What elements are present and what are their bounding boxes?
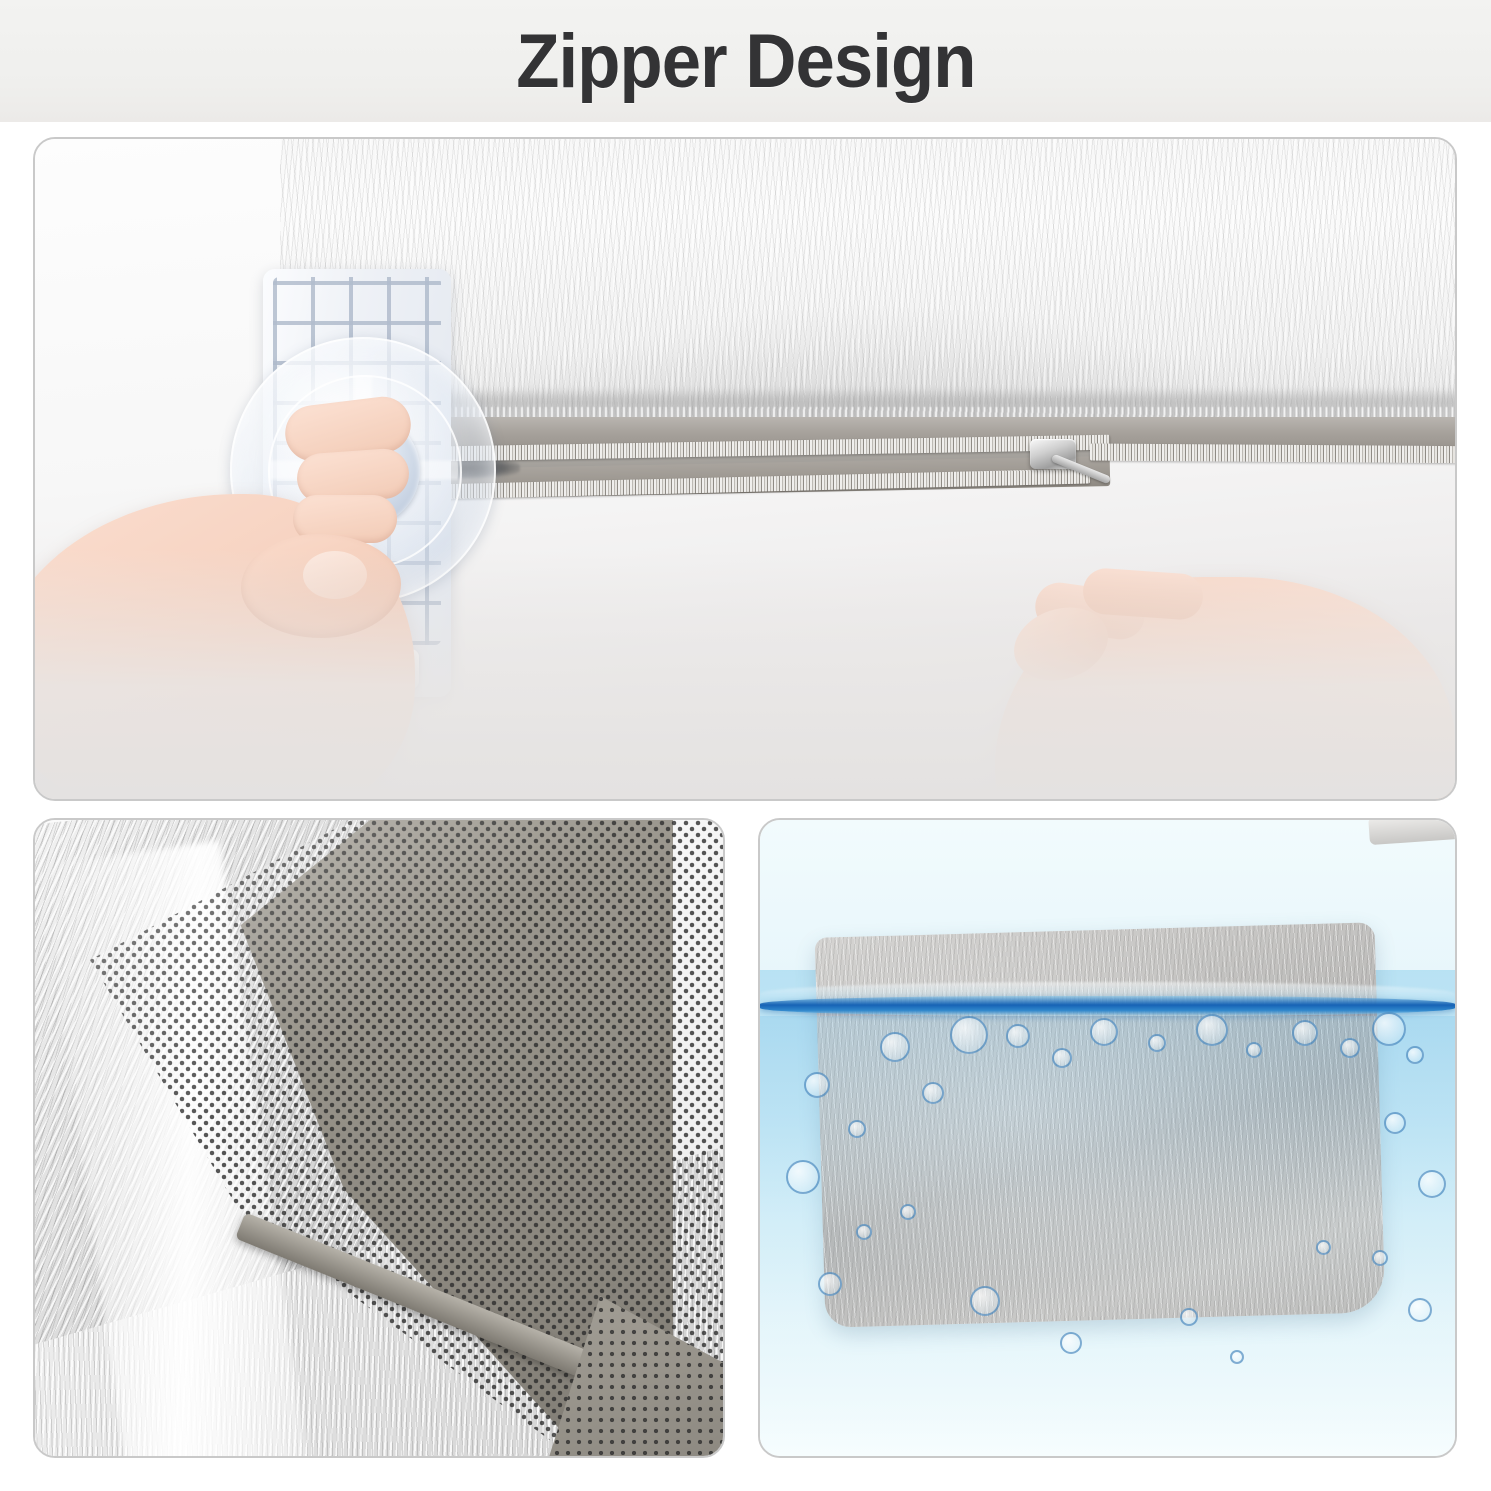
water-bubble — [1316, 1240, 1331, 1255]
water-bubble — [1148, 1034, 1166, 1052]
water-bubble — [900, 1204, 916, 1220]
zipper-demo-panel: Convenient to change the cover — [33, 137, 1457, 801]
water-bubble — [922, 1082, 944, 1104]
water-bubble — [1090, 1018, 1118, 1046]
water-bubble — [1384, 1112, 1406, 1134]
water-bubble — [1246, 1042, 1262, 1058]
water-bubble — [1408, 1298, 1432, 1322]
water-bubble — [804, 1072, 830, 1098]
page-title: Zipper Design — [516, 18, 975, 105]
water-bubble — [1006, 1024, 1030, 1048]
reversible-cover-panel: Reversible Cover — [33, 818, 725, 1458]
infographic-page: Zipper Design — [0, 0, 1491, 1491]
water-bubble — [1180, 1308, 1198, 1326]
water-bubble — [1052, 1048, 1072, 1068]
water-bubble — [1406, 1046, 1424, 1064]
water-bubble — [856, 1224, 872, 1240]
wash-demo-image — [760, 820, 1455, 1456]
surface-gradient — [35, 549, 1455, 799]
zipper-teeth-closed — [1090, 444, 1457, 464]
washable-panel: Convenient for wash — [758, 818, 1457, 1458]
water-bubble — [970, 1286, 1000, 1316]
zipper-demo-image — [35, 139, 1455, 799]
water-bubble — [1292, 1020, 1318, 1046]
water-bubble — [1060, 1332, 1082, 1354]
water-bubble — [1372, 1012, 1406, 1046]
header-bar: Zipper Design — [0, 0, 1491, 122]
reversible-cover-image — [35, 820, 723, 1456]
waterline — [760, 996, 1455, 1016]
water-bubble — [1372, 1250, 1388, 1266]
water-bubble — [1418, 1170, 1446, 1198]
water-bubble — [818, 1272, 842, 1296]
water-bubble — [1196, 1014, 1228, 1046]
water-bubble — [950, 1016, 988, 1054]
water-bubble — [1230, 1350, 1244, 1364]
water-bubble — [1340, 1038, 1360, 1058]
water-bubble — [848, 1120, 866, 1138]
zipper-assembly — [390, 417, 1457, 509]
water-bubble — [786, 1160, 820, 1194]
water-bubble — [880, 1032, 910, 1062]
